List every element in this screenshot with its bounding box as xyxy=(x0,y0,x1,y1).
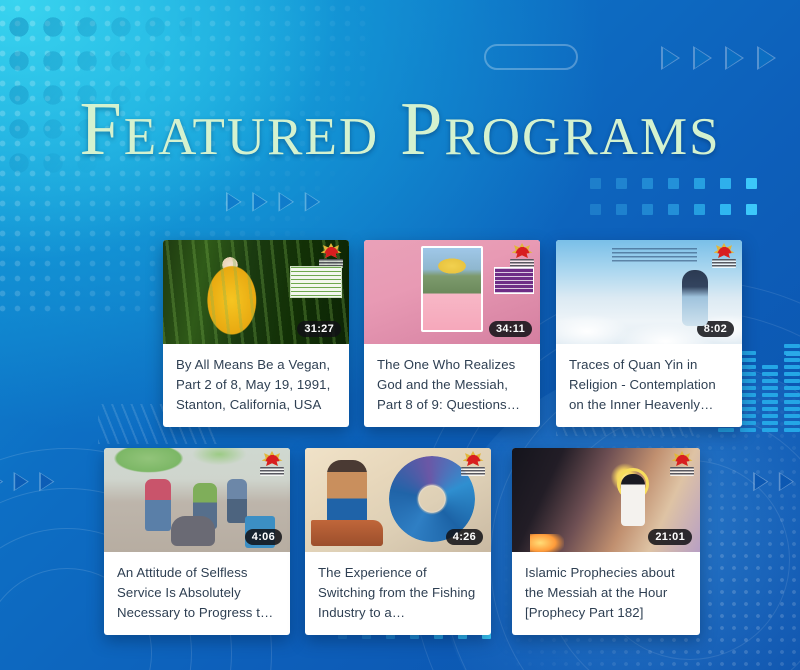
page-title: Featured Programs xyxy=(0,86,800,173)
play-triangle-icon xyxy=(278,192,294,212)
play-triangle-icon xyxy=(693,46,712,70)
program-thumbnail[interactable]: 31:27 xyxy=(163,240,349,344)
lotus-logo-icon xyxy=(259,451,285,479)
play-triangles-top-right xyxy=(661,46,776,70)
duration-badge: 4:26 xyxy=(446,529,483,545)
program-title: The Experience of Switching from the Fis… xyxy=(305,552,491,635)
play-triangle-icon xyxy=(757,46,776,70)
play-triangle-icon xyxy=(226,192,242,212)
play-triangle-icon xyxy=(753,472,768,491)
program-title: Islamic Prophecies about the Messiah at … xyxy=(512,552,700,635)
play-triangle-icon xyxy=(14,472,29,491)
play-triangles-bottom-right xyxy=(753,472,794,491)
play-triangle-icon xyxy=(0,472,3,491)
equalizer-tick-icon xyxy=(786,352,800,356)
lotus-logo-icon xyxy=(711,243,737,271)
play-triangles-bottom-left xyxy=(0,472,54,491)
play-triangle-icon xyxy=(661,46,680,70)
play-triangle-icon xyxy=(725,46,744,70)
duration-badge: 31:27 xyxy=(297,321,341,337)
program-card[interactable]: 4:06 An Attitude of Selfless Service Is … xyxy=(104,448,290,635)
play-triangle-icon xyxy=(305,192,321,212)
program-thumbnail[interactable]: 21:01 xyxy=(512,448,700,552)
program-title: An Attitude of Selfless Service Is Absol… xyxy=(104,552,290,635)
program-card[interactable]: 4:26 The Experience of Switching from th… xyxy=(305,448,491,635)
program-thumbnail[interactable]: 4:06 xyxy=(104,448,290,552)
duration-badge: 21:01 xyxy=(648,529,692,545)
play-triangle-icon xyxy=(252,192,268,212)
lotus-logo-icon xyxy=(669,451,695,479)
program-thumbnail[interactable]: 4:26 xyxy=(305,448,491,552)
program-thumbnail[interactable]: 34:11 xyxy=(364,240,540,344)
program-thumbnail[interactable]: 8:02 xyxy=(556,240,742,344)
play-triangle-icon xyxy=(779,472,794,491)
program-card[interactable]: 21:01 Islamic Prophecies about the Messi… xyxy=(512,448,700,635)
program-card[interactable]: 31:27 By All Means Be a Vegan, Part 2 of… xyxy=(163,240,349,427)
page-title-text: Featured Programs xyxy=(79,87,720,171)
duration-badge: 4:06 xyxy=(245,529,282,545)
duration-badge: 34:11 xyxy=(489,321,532,337)
play-triangles-mid-left xyxy=(226,192,320,212)
program-title: The One Who Realizes God and the Messiah… xyxy=(364,344,540,427)
play-triangle-icon xyxy=(39,472,54,491)
program-title: By All Means Be a Vegan, Part 2 of 8, Ma… xyxy=(163,344,349,427)
square-grid-under-title xyxy=(590,178,772,230)
program-title: Traces of Quan Yin in Religion - Contemp… xyxy=(556,344,742,427)
featured-programs-banner: Featured Programs 31:27 By All Means Be … xyxy=(0,0,800,670)
pill-outline-shape xyxy=(484,44,578,70)
program-card[interactable]: 34:11 The One Who Realizes God and the M… xyxy=(364,240,540,427)
lotus-logo-icon xyxy=(460,451,486,479)
program-card[interactable]: 8:02 Traces of Quan Yin in Religion - Co… xyxy=(556,240,742,427)
